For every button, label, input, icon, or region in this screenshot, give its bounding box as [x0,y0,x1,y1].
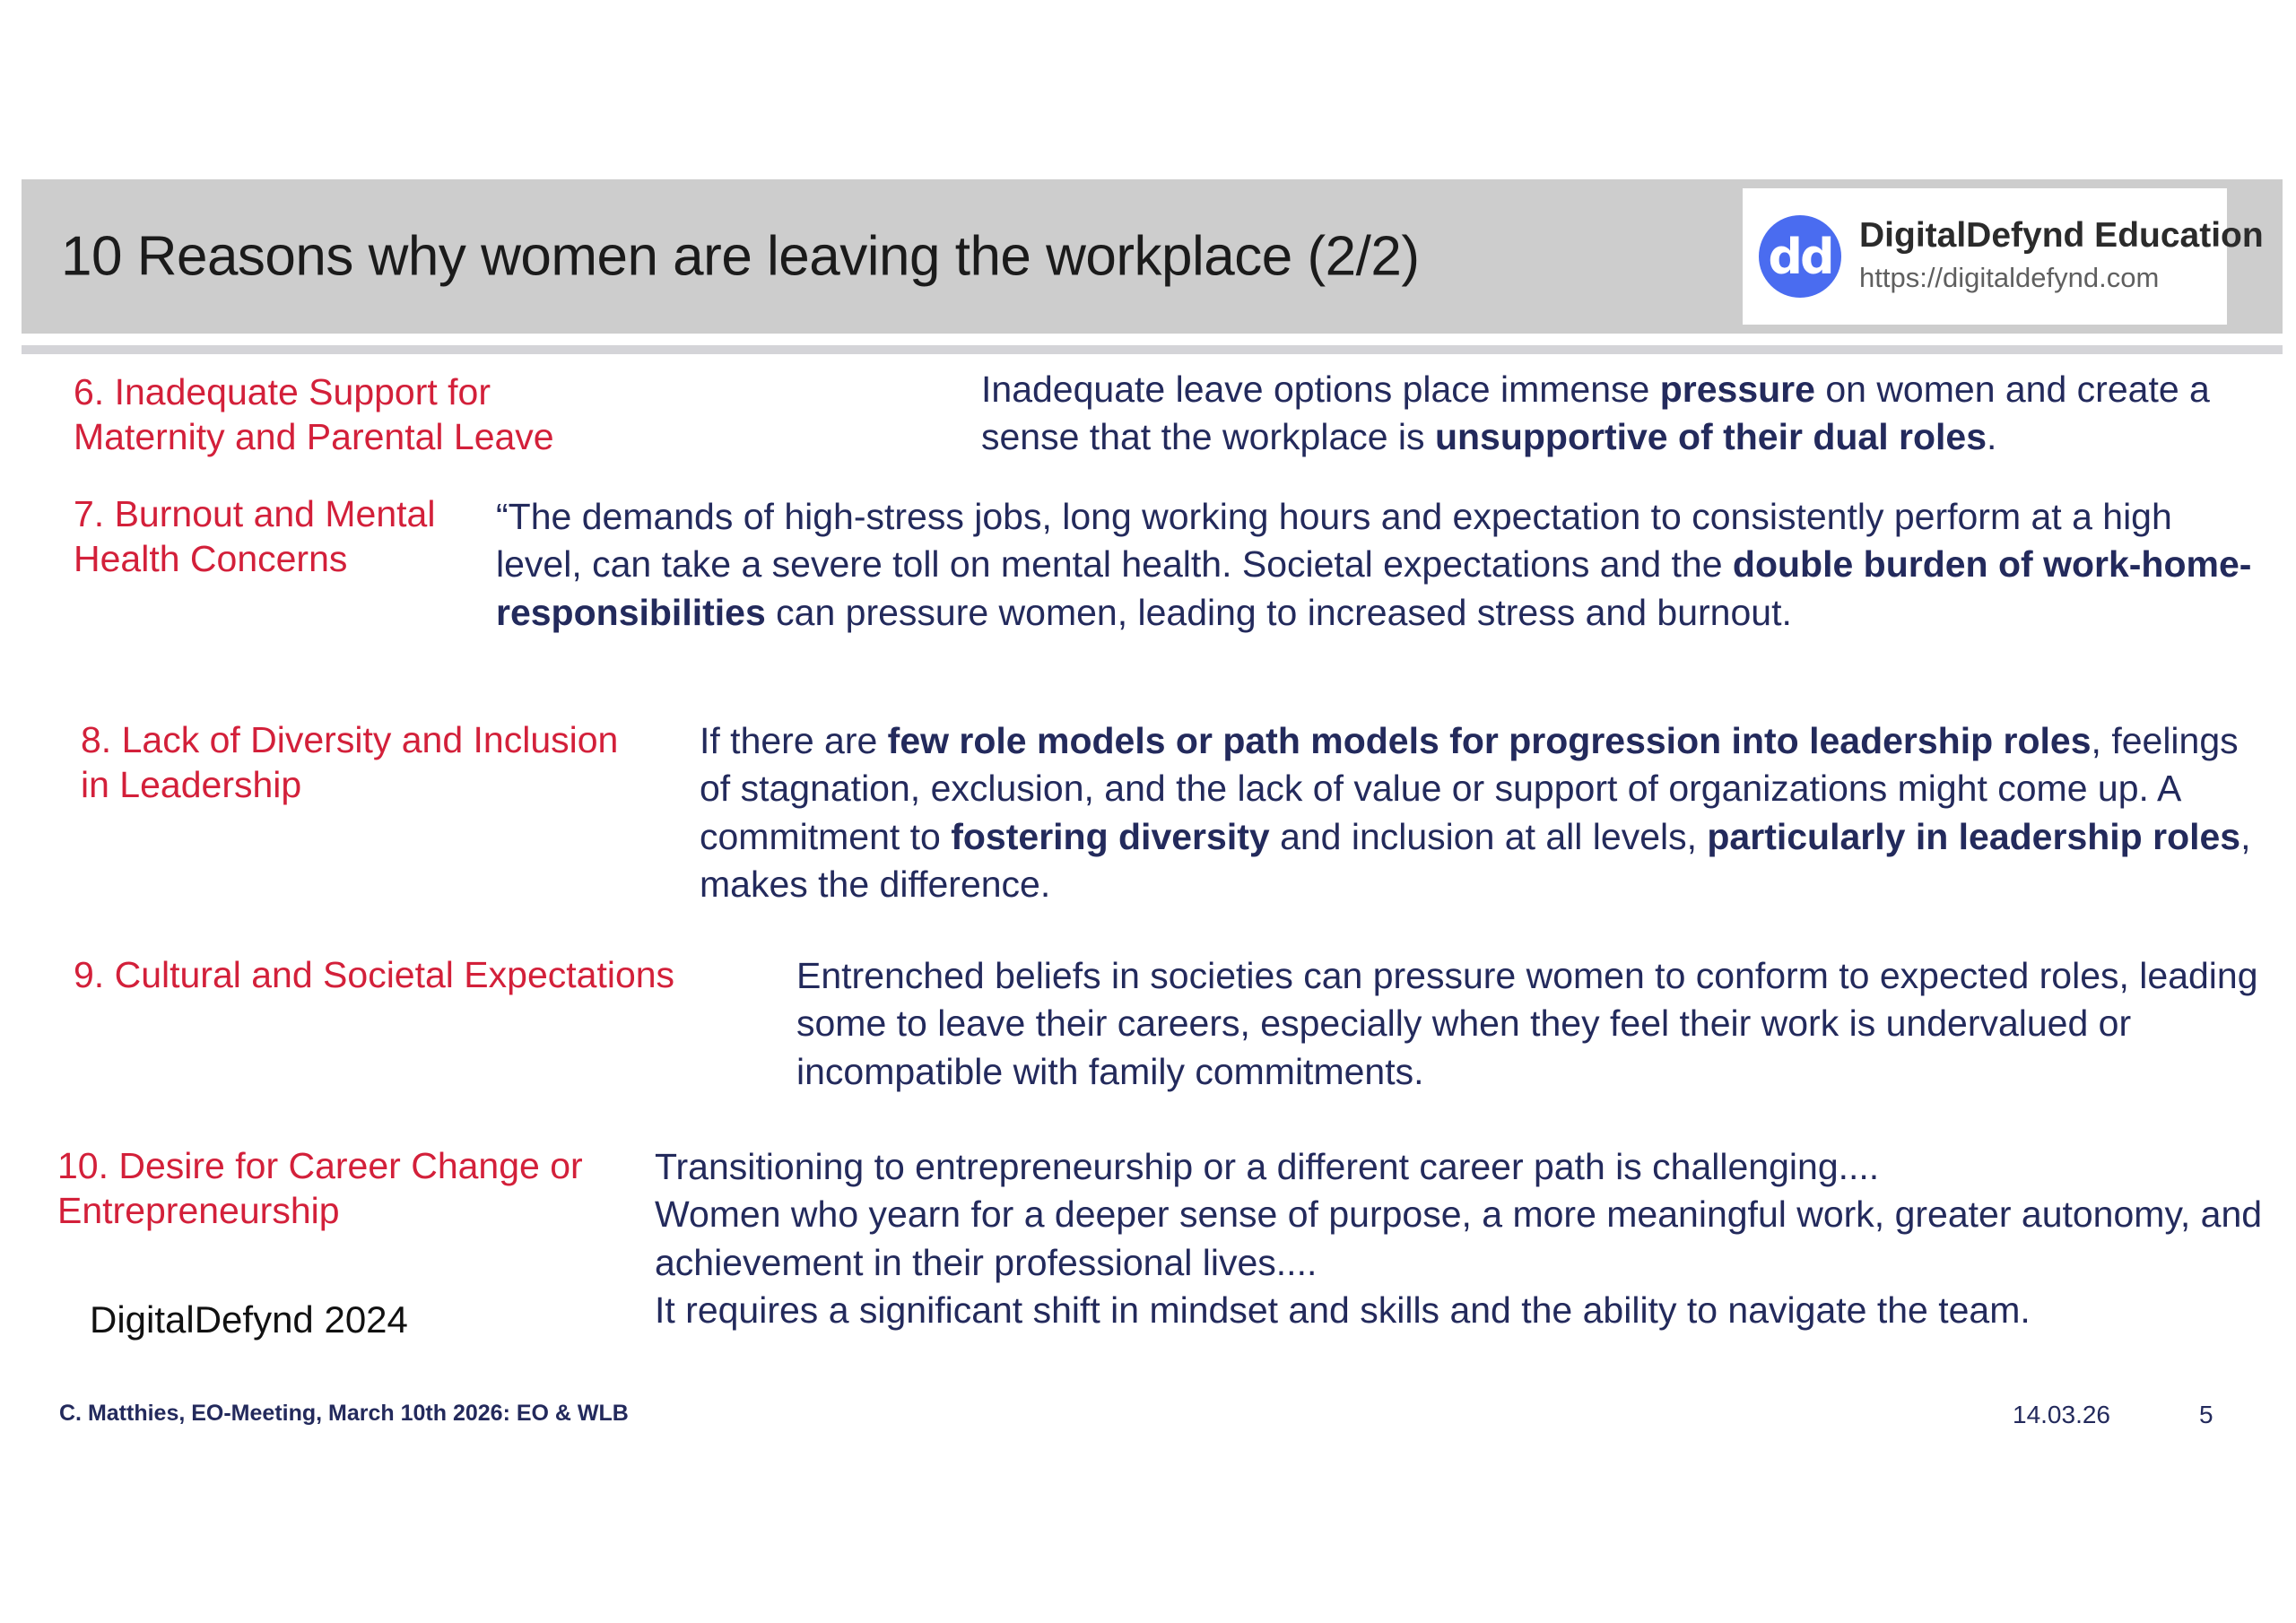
reason-heading-6: 6. Inadequate Support for Maternity and … [74,369,612,459]
reason-heading-7: 7. Burnout and Mental Health Concerns [74,491,459,581]
reason-heading-8: 8. Lack of Diversity and Inclusion in Le… [81,717,655,807]
header-divider [22,345,2283,354]
brand-logo-card: dd DigitalDefynd Education https://digit… [1743,188,2227,325]
reason-body-6: Inadequate leave options place immense p… [981,366,2255,462]
brand-text-block: DigitalDefynd Education https://digitald… [1859,216,2264,296]
footer-page-number: 5 [2199,1401,2213,1429]
reason-body-7: “The demands of high-stress jobs, long w… [496,493,2267,637]
page-title: 10 Reasons why women are leaving the wor… [61,225,1419,289]
source-attribution: DigitalDefynd 2024 [90,1298,408,1341]
footer-meeting-info: C. Matthies, EO-Meeting, March 10th 2026… [59,1401,629,1427]
reason-body-8: If there are few role models or path mod… [700,717,2269,908]
footer-date: 14.03.26 [2013,1401,2110,1429]
reason-body-9: Entrenched beliefs in societies can pres… [796,952,2267,1096]
brand-name: DigitalDefynd Education [1859,216,2264,256]
reason-body-10: Transitioning to entrepreneurship or a d… [655,1143,2269,1334]
reason-heading-9: 9. Cultural and Societal Expectations [74,952,773,997]
reason-heading-10: 10. Desire for Career Change or Entrepre… [57,1143,649,1233]
brand-url: https://digitaldefynd.com [1859,260,2264,296]
digitaldefynd-logo-icon: dd [1759,215,1841,298]
slide-header-band: 10 Reasons why women are leaving the wor… [22,179,2283,334]
